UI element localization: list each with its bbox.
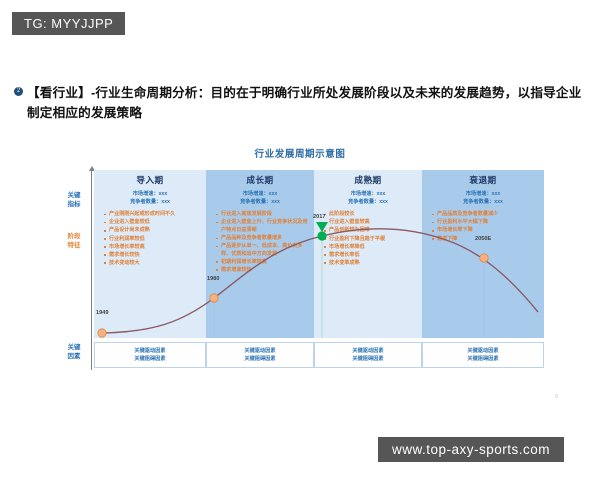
data-marker-1949	[98, 329, 106, 337]
top-watermark-text: TG: MYYJJPP	[24, 16, 113, 31]
bottom-watermark-badge: www.top-axy-sports.com	[378, 437, 564, 462]
row-label-key-metrics: 关键 指标	[60, 192, 88, 210]
key-factor-cell-maturity[interactable]: 关键驱动因素关键阻碍因素	[314, 342, 422, 368]
vertical-axis	[91, 170, 92, 370]
key-factor-text: 关键驱动因素	[467, 347, 498, 355]
row-label-key-metrics-line1: 关键	[60, 192, 88, 201]
curve-path	[102, 229, 538, 333]
row-label-stage-features: 阶段 特征	[60, 233, 88, 251]
key-factor-text: 关键阻碍因素	[134, 355, 165, 363]
key-factor-cell-growth[interactable]: 关键驱动因素关键阻碍因素	[206, 342, 314, 368]
year-label-1949: 1949	[96, 310, 108, 316]
row-label-key-factors: 关键 因素	[60, 344, 88, 362]
key-factor-text: 关键驱动因素	[134, 347, 165, 355]
page-title: 2 【看行业】-行业生命周期分析：目的在于明确行业所处发展阶段以及未来的发展趋势…	[14, 84, 588, 123]
key-factor-text: 关键驱动因素	[352, 347, 383, 355]
row-label-key-factors-line1: 关键	[60, 344, 88, 353]
key-factor-text: 关键阻碍因素	[352, 355, 383, 363]
row-label-stage-features-line2: 特征	[60, 242, 88, 251]
key-factor-text: 关键阻碍因素	[244, 355, 275, 363]
chart-card: 行业发展周期示意图 关键 指标 阶段 特征 关键 因素 导入期市场增速：xxx竞…	[36, 138, 564, 403]
heading-text: 【看行业】-行业生命周期分析：目的在于明确行业所处发展阶段以及未来的发展趋势，以…	[27, 84, 588, 123]
lifecycle-matrix: 关键 指标 阶段 特征 关键 因素 导入期市场增速：xxx竞争者数量：xxx产业…	[60, 170, 544, 388]
year-label-2017: 2017	[313, 214, 325, 220]
key-factor-text: 关键阻碍因素	[467, 355, 498, 363]
current-stage-arrow-icon	[316, 222, 328, 232]
key-factors-row: 关键驱动因素关键阻碍因素关键驱动因素关键阻碍因素关键驱动因素关键阻碍因素关键驱动…	[94, 338, 544, 370]
page-number: 8	[555, 394, 558, 400]
year-label-1980: 1980	[207, 276, 219, 282]
data-marker-1980	[210, 294, 218, 302]
key-factor-cell-introduction[interactable]: 关键驱动因素关键阻碍因素	[94, 342, 206, 368]
data-marker-2050	[480, 254, 488, 262]
heading-bullet-icon: 2	[14, 87, 23, 96]
slide-page: TG: MYYJJPP 2 【看行业】-行业生命周期分析：目的在于明确行业所处发…	[0, 0, 600, 480]
year-label-2050: 2050E	[475, 236, 491, 242]
top-watermark-badge: TG: MYYJJPP	[12, 12, 125, 35]
row-label-stage-features-line1: 阶段	[60, 233, 88, 242]
row-label-key-factors-line2: 因素	[60, 353, 88, 362]
key-factor-cell-decline[interactable]: 关键驱动因素关键阻碍因素	[422, 342, 544, 368]
row-label-key-metrics-line2: 指标	[60, 201, 88, 210]
key-factor-text: 关键驱动因素	[244, 347, 275, 355]
data-marker-2017	[318, 232, 326, 240]
chart-title: 行业发展周期示意图	[36, 138, 564, 160]
bottom-watermark-text: www.top-axy-sports.com	[392, 442, 550, 457]
